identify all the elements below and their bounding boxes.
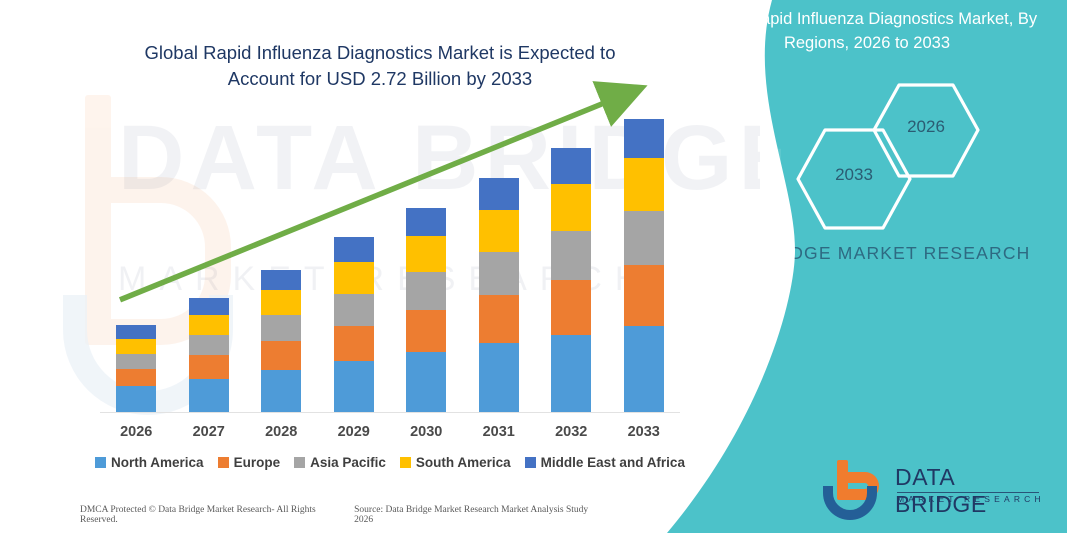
bar-segment bbox=[551, 184, 591, 231]
chart-title: Global Rapid Influenza Diagnostics Marke… bbox=[110, 40, 650, 93]
bar-group bbox=[334, 237, 374, 412]
legend-label: Europe bbox=[234, 455, 281, 470]
logo-swoosh-icon bbox=[823, 486, 877, 520]
legend-label: Asia Pacific bbox=[310, 455, 386, 470]
bar-segment bbox=[189, 335, 229, 355]
bar-segment bbox=[479, 252, 519, 295]
bar-group bbox=[479, 178, 519, 413]
logo-title: DATA BRIDGE bbox=[895, 464, 1049, 518]
legend-label: Middle East and Africa bbox=[541, 455, 685, 470]
bar-segment bbox=[406, 272, 446, 310]
bar-segment bbox=[624, 158, 664, 211]
chart-panel: DATA BRIDGE MARKET RESEARCH Global Rapid… bbox=[0, 0, 760, 533]
x-axis-label: 2029 bbox=[319, 424, 389, 440]
watermark-logo-icon bbox=[55, 95, 255, 395]
bar-segment bbox=[479, 178, 519, 210]
bar-segment bbox=[479, 295, 519, 343]
bar-segment bbox=[479, 210, 519, 252]
bar-group bbox=[406, 208, 446, 412]
growth-arrow-icon bbox=[100, 100, 680, 420]
bar-segment bbox=[406, 352, 446, 412]
bar-group bbox=[624, 119, 664, 412]
x-axis-line bbox=[100, 412, 680, 413]
legend-swatch-icon bbox=[400, 457, 411, 468]
chart-legend: North AmericaEuropeAsia PacificSouth Ame… bbox=[100, 455, 680, 470]
logo-divider bbox=[897, 492, 1039, 493]
bar-group bbox=[116, 325, 156, 412]
x-axis-label: 2026 bbox=[101, 424, 171, 440]
logo-subtitle: MARKET RESEARCH bbox=[897, 494, 1045, 504]
x-axis-label: 2033 bbox=[609, 424, 679, 440]
bar-segment bbox=[624, 265, 664, 326]
bar-segment bbox=[334, 237, 374, 263]
bar-segment bbox=[261, 370, 301, 412]
legend-item[interactable]: Asia Pacific bbox=[294, 455, 386, 470]
bar-segment bbox=[624, 211, 664, 265]
bar-segment bbox=[624, 119, 664, 158]
bar-segment bbox=[334, 361, 374, 412]
bar-segment bbox=[189, 355, 229, 379]
bar-segment bbox=[551, 280, 591, 335]
legend-item[interactable]: Europe bbox=[218, 455, 281, 470]
bar-segment bbox=[261, 341, 301, 370]
footer-source: Source: Data Bridge Market Research Mark… bbox=[354, 505, 608, 529]
bar-segment bbox=[551, 231, 591, 279]
footer: DMCA Protected © Data Bridge Market Rese… bbox=[0, 505, 760, 529]
footer-copyright: DMCA Protected © Data Bridge Market Rese… bbox=[80, 505, 354, 529]
legend-item[interactable]: North America bbox=[95, 455, 204, 470]
bar-segment bbox=[406, 310, 446, 352]
bar-segment bbox=[116, 386, 156, 412]
bar-segment bbox=[116, 369, 156, 386]
bar-group bbox=[189, 298, 229, 412]
legend-label: South America bbox=[416, 455, 511, 470]
watermark-line1: DATA BRIDGE bbox=[118, 112, 738, 204]
bar-segment bbox=[261, 290, 301, 315]
bar-segment bbox=[551, 148, 591, 184]
legend-swatch-icon bbox=[95, 457, 106, 468]
bar-series-container bbox=[100, 100, 680, 412]
infographic-root: DATA BRIDGE MARKET RESEARCH Global Rapid… bbox=[0, 0, 1067, 533]
hexagon-2033-label: 2033 bbox=[795, 165, 913, 185]
x-axis-label: 2027 bbox=[174, 424, 244, 440]
x-axis-label: 2032 bbox=[536, 424, 606, 440]
watermark-line2: MARKET RESEARCH bbox=[118, 262, 738, 296]
bar-segment bbox=[624, 326, 664, 412]
bar-segment bbox=[334, 326, 374, 362]
bar-segment bbox=[334, 262, 374, 293]
legend-swatch-icon bbox=[525, 457, 536, 468]
bar-segment bbox=[261, 270, 301, 290]
legend-swatch-icon bbox=[294, 457, 305, 468]
watermark-text: DATA BRIDGE MARKET RESEARCH bbox=[118, 112, 738, 296]
legend-swatch-icon bbox=[218, 457, 229, 468]
bar-segment bbox=[116, 354, 156, 369]
bar-segment bbox=[406, 208, 446, 236]
x-axis-label: 2031 bbox=[464, 424, 534, 440]
bar-segment bbox=[116, 325, 156, 339]
bar-segment bbox=[479, 343, 519, 412]
bar-segment bbox=[551, 335, 591, 412]
x-axis-label: 2030 bbox=[391, 424, 461, 440]
bar-segment bbox=[189, 298, 229, 315]
hexagon-2026-label: 2026 bbox=[871, 117, 981, 137]
dbmr-logo: DATA BRIDGE MARKET RESEARCH bbox=[819, 458, 1049, 520]
bar-segment bbox=[261, 315, 301, 341]
bar-group bbox=[551, 148, 591, 412]
legend-item[interactable]: Middle East and Africa bbox=[525, 455, 685, 470]
x-axis-labels: 20262027202820292030203120322033 bbox=[100, 420, 680, 446]
bar-segment bbox=[334, 294, 374, 326]
legend-label: North America bbox=[111, 455, 204, 470]
bar-segment bbox=[189, 315, 229, 334]
bar-segment bbox=[189, 379, 229, 412]
legend-item[interactable]: South America bbox=[400, 455, 511, 470]
bar-segment bbox=[406, 236, 446, 273]
bar-segment bbox=[116, 339, 156, 354]
x-axis-label: 2028 bbox=[246, 424, 316, 440]
bar-group bbox=[261, 270, 301, 412]
